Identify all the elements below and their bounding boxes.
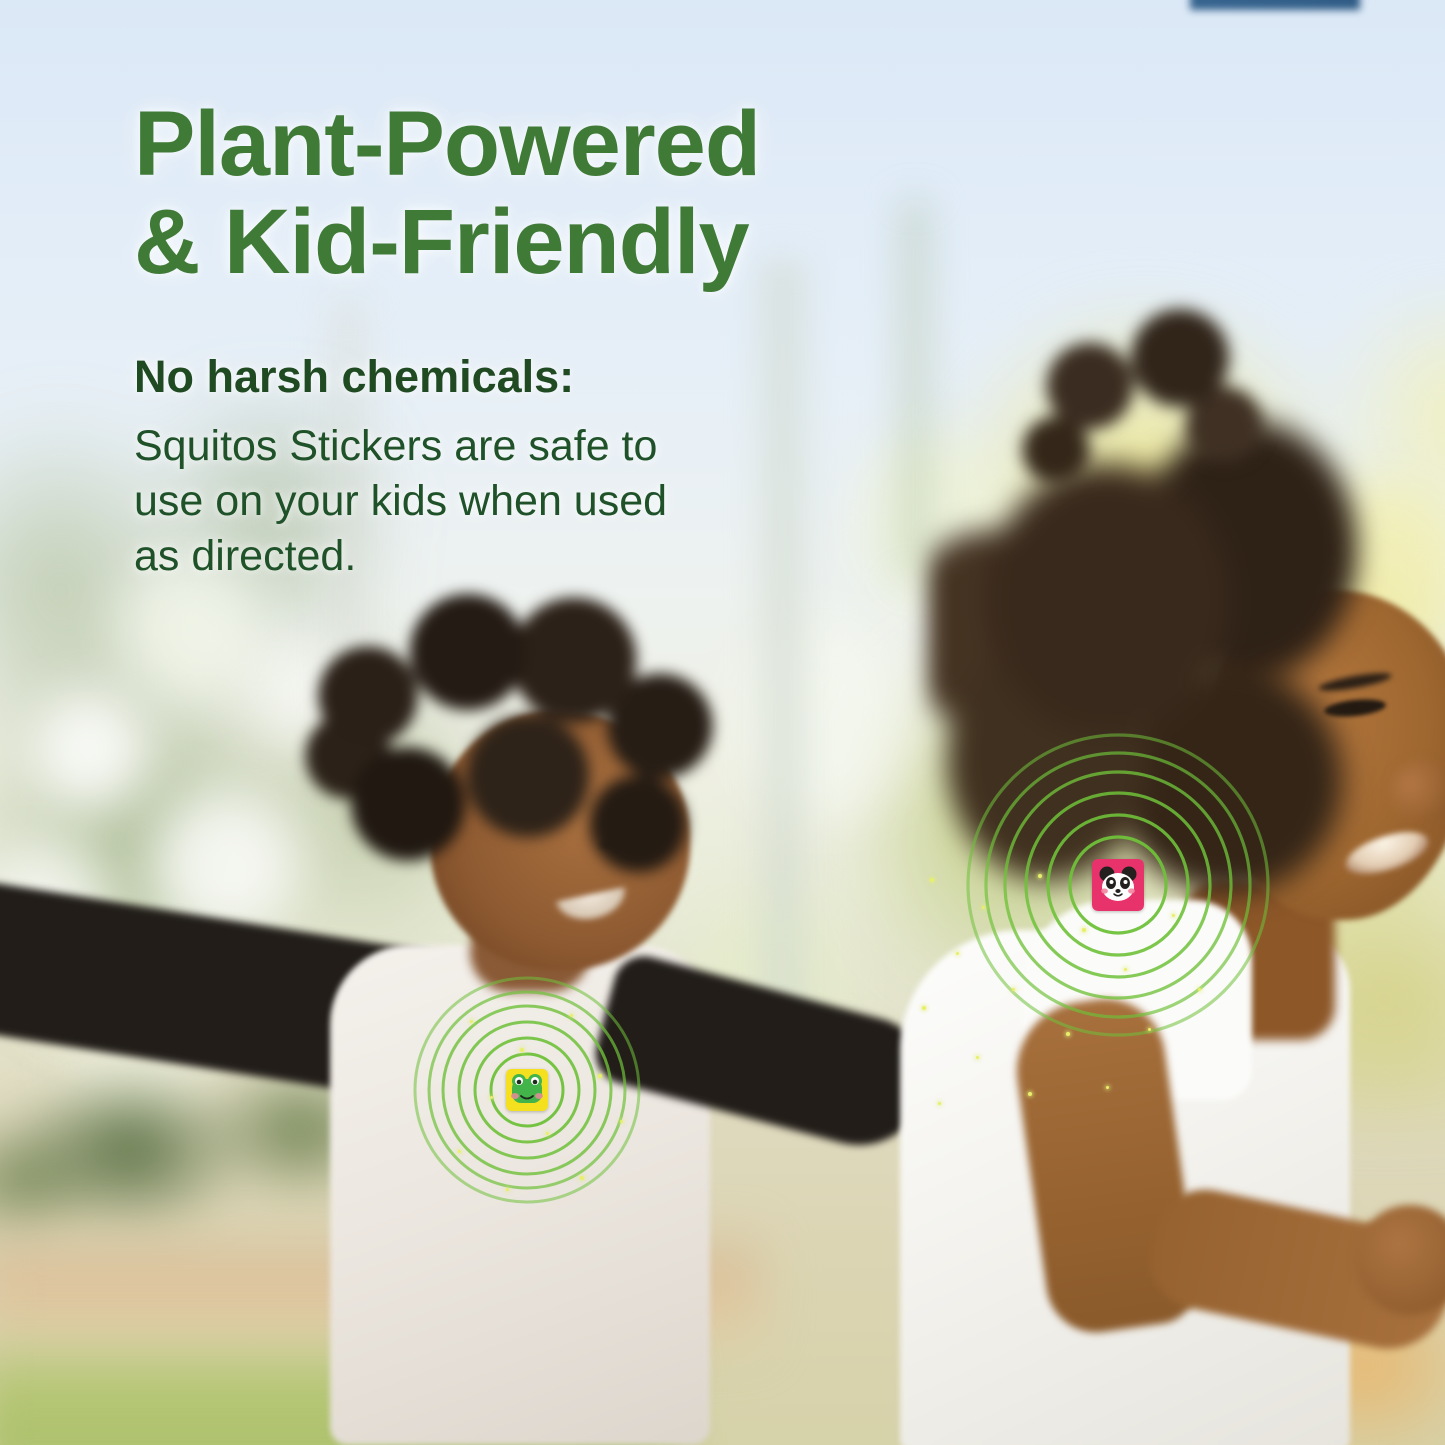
creative-banner: Plant-Powered & Kid-Friendly No harsh ch… <box>0 0 1445 1445</box>
headline-line-1: Plant-Powered <box>134 96 954 194</box>
body-line-1: Squitos Stickers are safe to <box>134 419 794 474</box>
subcopy-block: No harsh chemicals: Squitos Stickers are… <box>134 352 794 584</box>
frog-sticker[interactable] <box>506 1069 548 1111</box>
boy-hair <box>288 586 720 916</box>
panda-sticker[interactable] <box>1092 859 1144 911</box>
subheadline: No harsh chemicals: <box>134 352 794 402</box>
headline-line-2: & Kid-Friendly <box>134 194 954 292</box>
girl-jeans <box>1190 0 1360 10</box>
headline: Plant-Powered & Kid-Friendly <box>134 96 954 291</box>
body-copy: Squitos Stickers are safe to use on your… <box>134 419 794 584</box>
body-line-2: use on your kids when used <box>134 474 794 529</box>
girl-hair-bun <box>1010 300 1280 500</box>
body-line-3: as directed. <box>134 529 794 584</box>
